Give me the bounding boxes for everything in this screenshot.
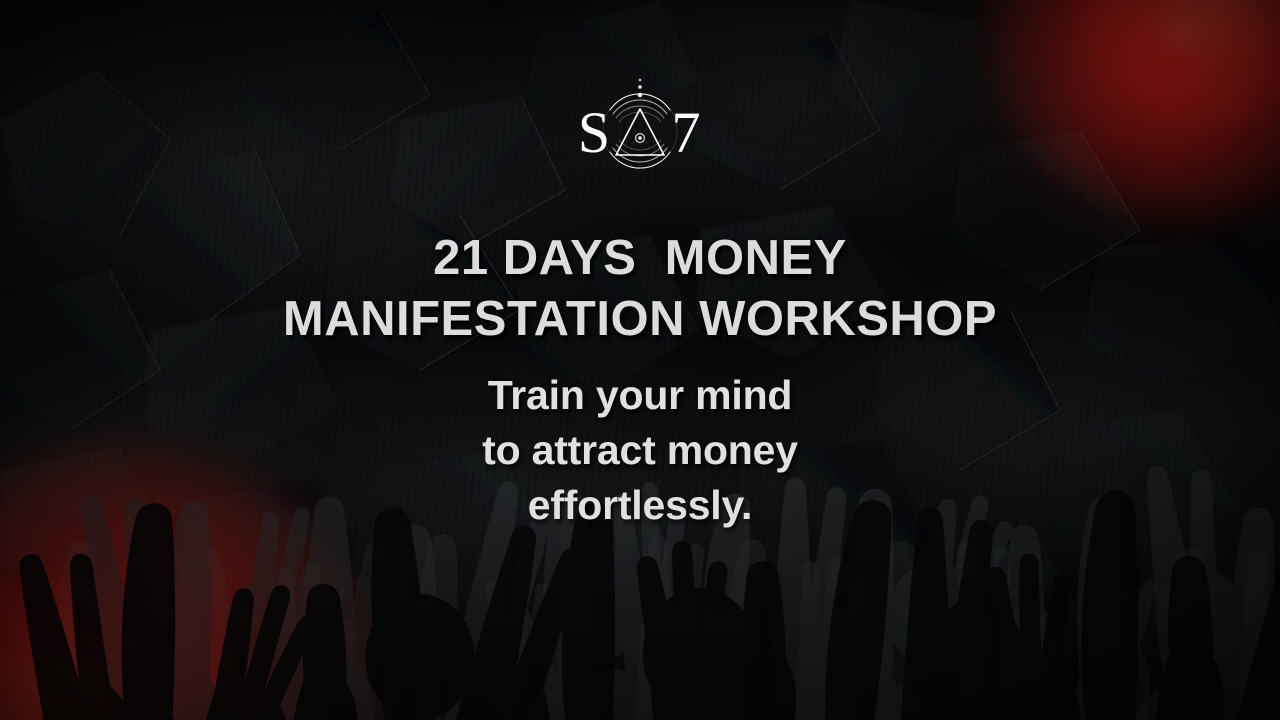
logo-triangle-icon bbox=[616, 109, 664, 155]
promo-banner: S 7 21 DAYS MONEY MANIFESTATION WORKSHOP… bbox=[0, 0, 1280, 720]
brand-logo: S 7 bbox=[0, 76, 1280, 186]
page-title: 21 DAYS MONEY MANIFESTATION WORKSHOP bbox=[0, 228, 1280, 350]
subheadline-line-3: effortlessly. bbox=[0, 478, 1280, 533]
subheadline-line-1: Train your mind bbox=[0, 368, 1280, 423]
headline-line-2: MANIFESTATION WORKSHOP bbox=[0, 289, 1280, 350]
logo-letter-s: S bbox=[578, 100, 610, 165]
logo-center-dot-icon bbox=[636, 134, 645, 143]
headline-line-1: 21 DAYS MONEY bbox=[0, 228, 1280, 289]
subtitle: Train your mind to attract money effortl… bbox=[0, 368, 1280, 533]
subheadline-line-2: to attract money bbox=[0, 423, 1280, 478]
logo-arc-rings-icon bbox=[603, 94, 677, 168]
logo-letter-7: 7 bbox=[672, 100, 701, 165]
